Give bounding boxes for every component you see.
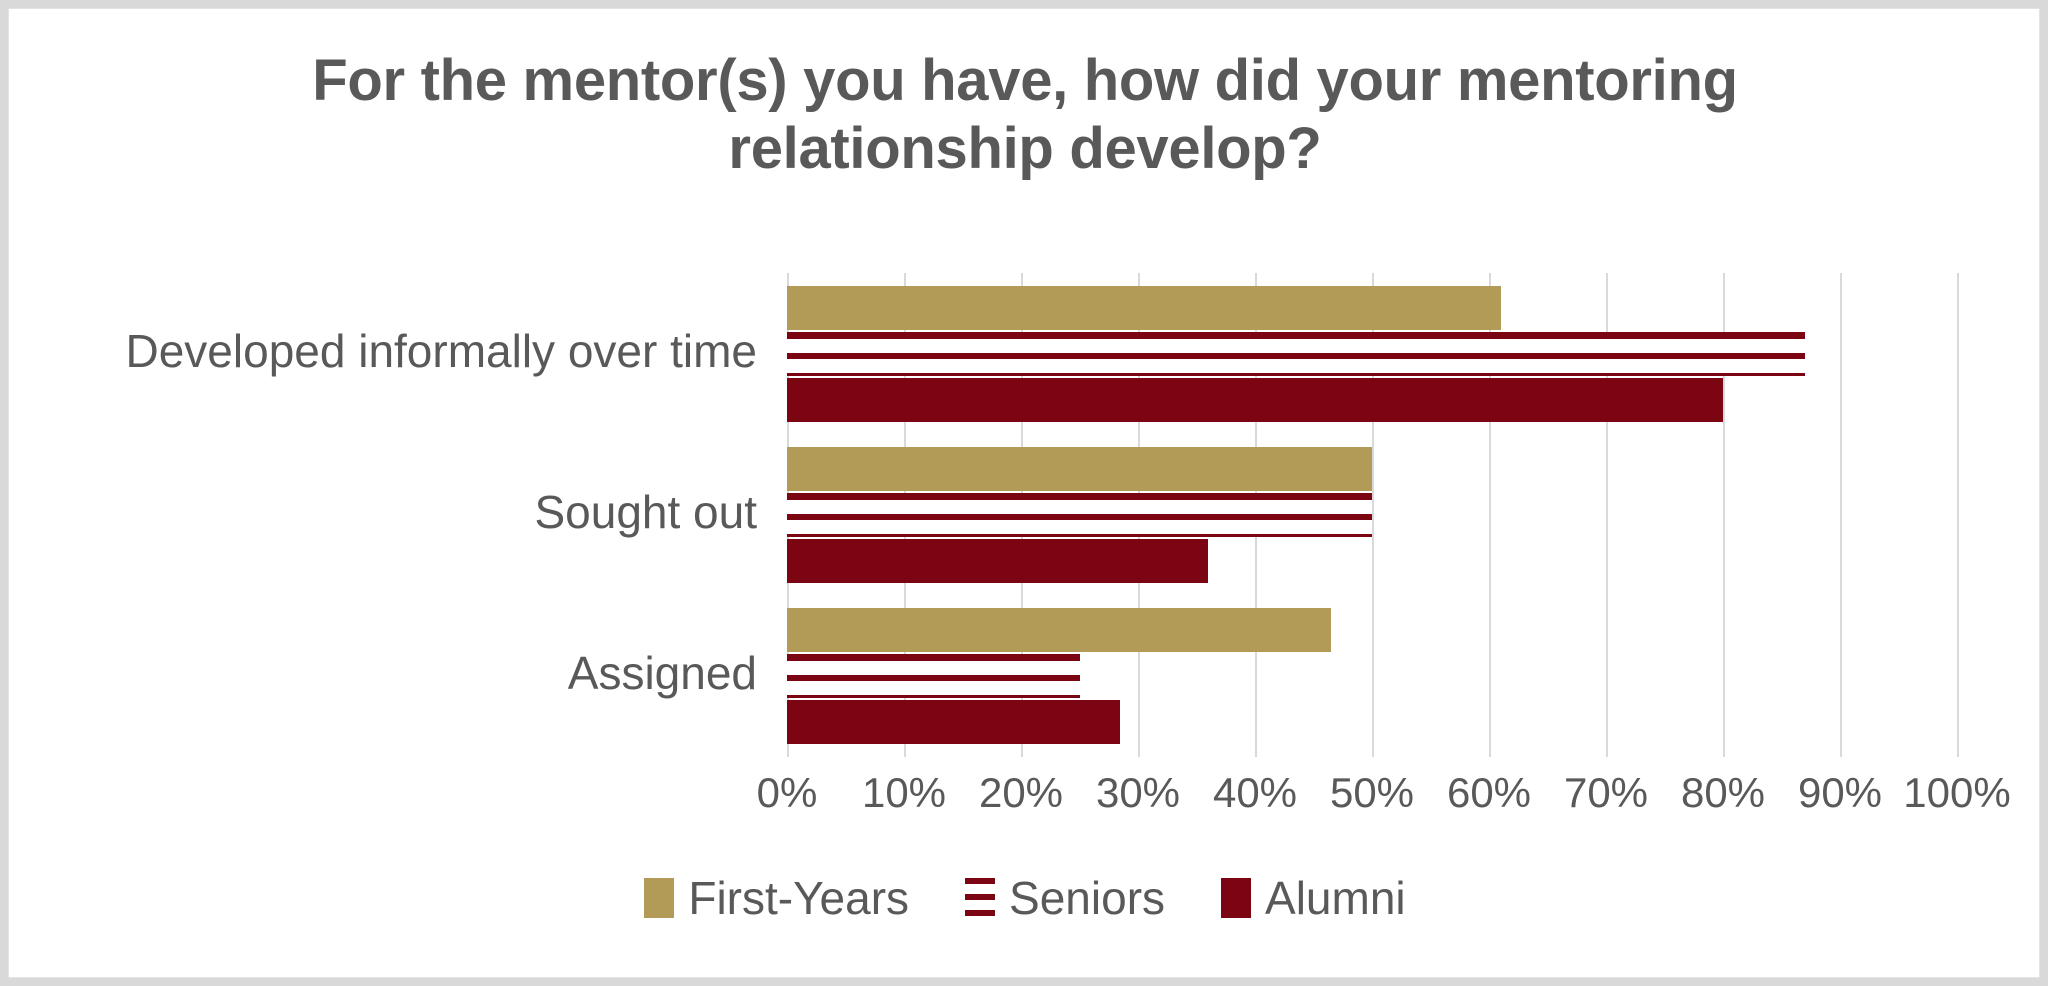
bar-seniors[interactable] — [787, 654, 1080, 698]
legend-swatch-icon — [644, 878, 674, 918]
category-label: Assigned — [8, 646, 757, 700]
gridline-100 — [1957, 273, 1959, 757]
chart-card: For the mentor(s) you have, how did your… — [8, 8, 2040, 978]
category-label: Sought out — [8, 485, 757, 539]
plot-area — [787, 273, 1957, 757]
bar-group — [787, 273, 1957, 757]
legend-item-seniors[interactable]: Seniors — [965, 871, 1165, 925]
bar-alumni[interactable] — [787, 700, 1120, 744]
x-tick-label: 100% — [1877, 769, 2037, 817]
chart-title-line-2: relationship develop? — [129, 115, 1921, 183]
legend-label: First-Years — [688, 871, 909, 925]
legend-item-alumni[interactable]: Alumni — [1221, 871, 1406, 925]
legend-swatch-icon — [965, 878, 995, 918]
bar-first-years[interactable] — [787, 608, 1331, 652]
chart-title: For the mentor(s) you have, how did your… — [129, 47, 1921, 184]
legend-swatch-icon — [1221, 878, 1251, 918]
chart-title-line-1: For the mentor(s) you have, how did your… — [129, 47, 1921, 115]
chart-legend: First-YearsSeniorsAlumni — [9, 871, 2040, 925]
legend-item-first-years[interactable]: First-Years — [644, 871, 909, 925]
legend-label: Seniors — [1009, 871, 1165, 925]
category-label: Developed informally over time — [8, 324, 757, 378]
legend-label: Alumni — [1265, 871, 1406, 925]
